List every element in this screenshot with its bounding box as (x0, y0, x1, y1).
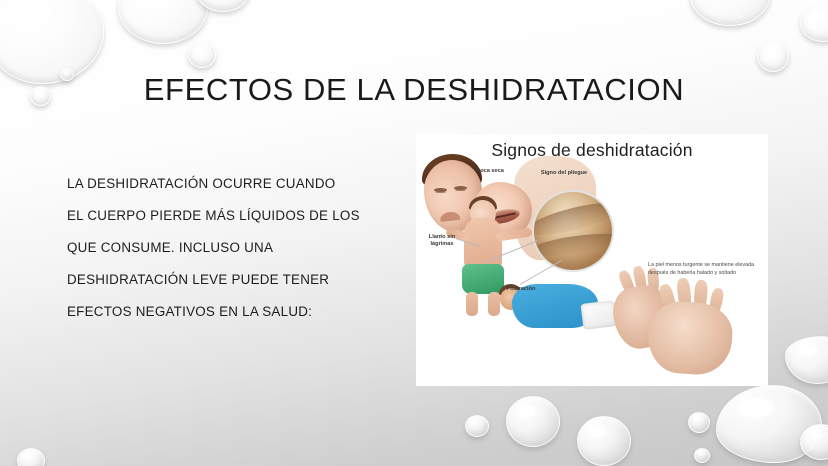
image-label-dry-mouth: Boca seca (472, 168, 508, 175)
body-line: EFECTOS NEGATIVOS EN LA SALUD: (67, 296, 397, 328)
water-drop-icon (757, 41, 789, 72)
illustration-child-leg-left (466, 292, 478, 316)
illustration-child-leg-right (488, 292, 500, 316)
water-drop-icon (465, 415, 489, 437)
illustration-eye-left (434, 188, 447, 192)
illustration-skin-fold-magnifier (534, 192, 612, 270)
water-drop-icon (800, 424, 828, 460)
water-drop-icon (716, 385, 822, 463)
dehydration-signs-image: Signos de deshidratación (416, 134, 768, 386)
water-drop-icon (577, 416, 631, 466)
body-line: LA DESHIDRATACIÓN OCURRE CUANDO (67, 168, 397, 200)
image-caption-skin-turgor: La piel menos turgente se mantiene eleva… (648, 262, 760, 278)
body-line: EL CUERPO PIERDE MÁS LÍQUIDOS DE LOS (67, 200, 397, 232)
water-drop-icon (118, 0, 208, 44)
body-line: QUE CONSUME. INCLUSO UNA (67, 232, 397, 264)
water-drop-icon (785, 336, 828, 384)
body-line: DESHIDRATACIÓN LEVE PUEDE TENER (67, 264, 397, 296)
water-drop-icon (196, 0, 250, 12)
water-drop-icon (800, 4, 828, 42)
illustration-pillow (581, 300, 618, 330)
pointer-line (520, 260, 562, 285)
illustration-eye-right (454, 186, 467, 190)
image-label-no-tears: Llanto sin lágrimas (418, 234, 466, 248)
slide-title: EFECTOS DE LA DESHIDRATACION (60, 72, 768, 108)
illustration-hand-front (646, 299, 735, 377)
presentation-slide: EFECTOS DE LA DESHIDRATACION LA DESHIDRA… (0, 0, 828, 466)
water-drop-icon (690, 0, 770, 26)
water-drop-icon (688, 412, 710, 433)
water-drop-icon (30, 86, 51, 106)
water-drop-icon (17, 448, 45, 466)
image-label-prostration: Postración (498, 286, 544, 293)
water-drop-icon (694, 448, 710, 463)
water-drop-icon (506, 396, 560, 447)
slide-body-text: LA DESHIDRATACIÓN OCURRE CUANDO EL CUERP… (67, 168, 397, 328)
water-drop-icon (188, 42, 216, 68)
image-label-skin-fold: Signo del pliegue (538, 170, 590, 177)
